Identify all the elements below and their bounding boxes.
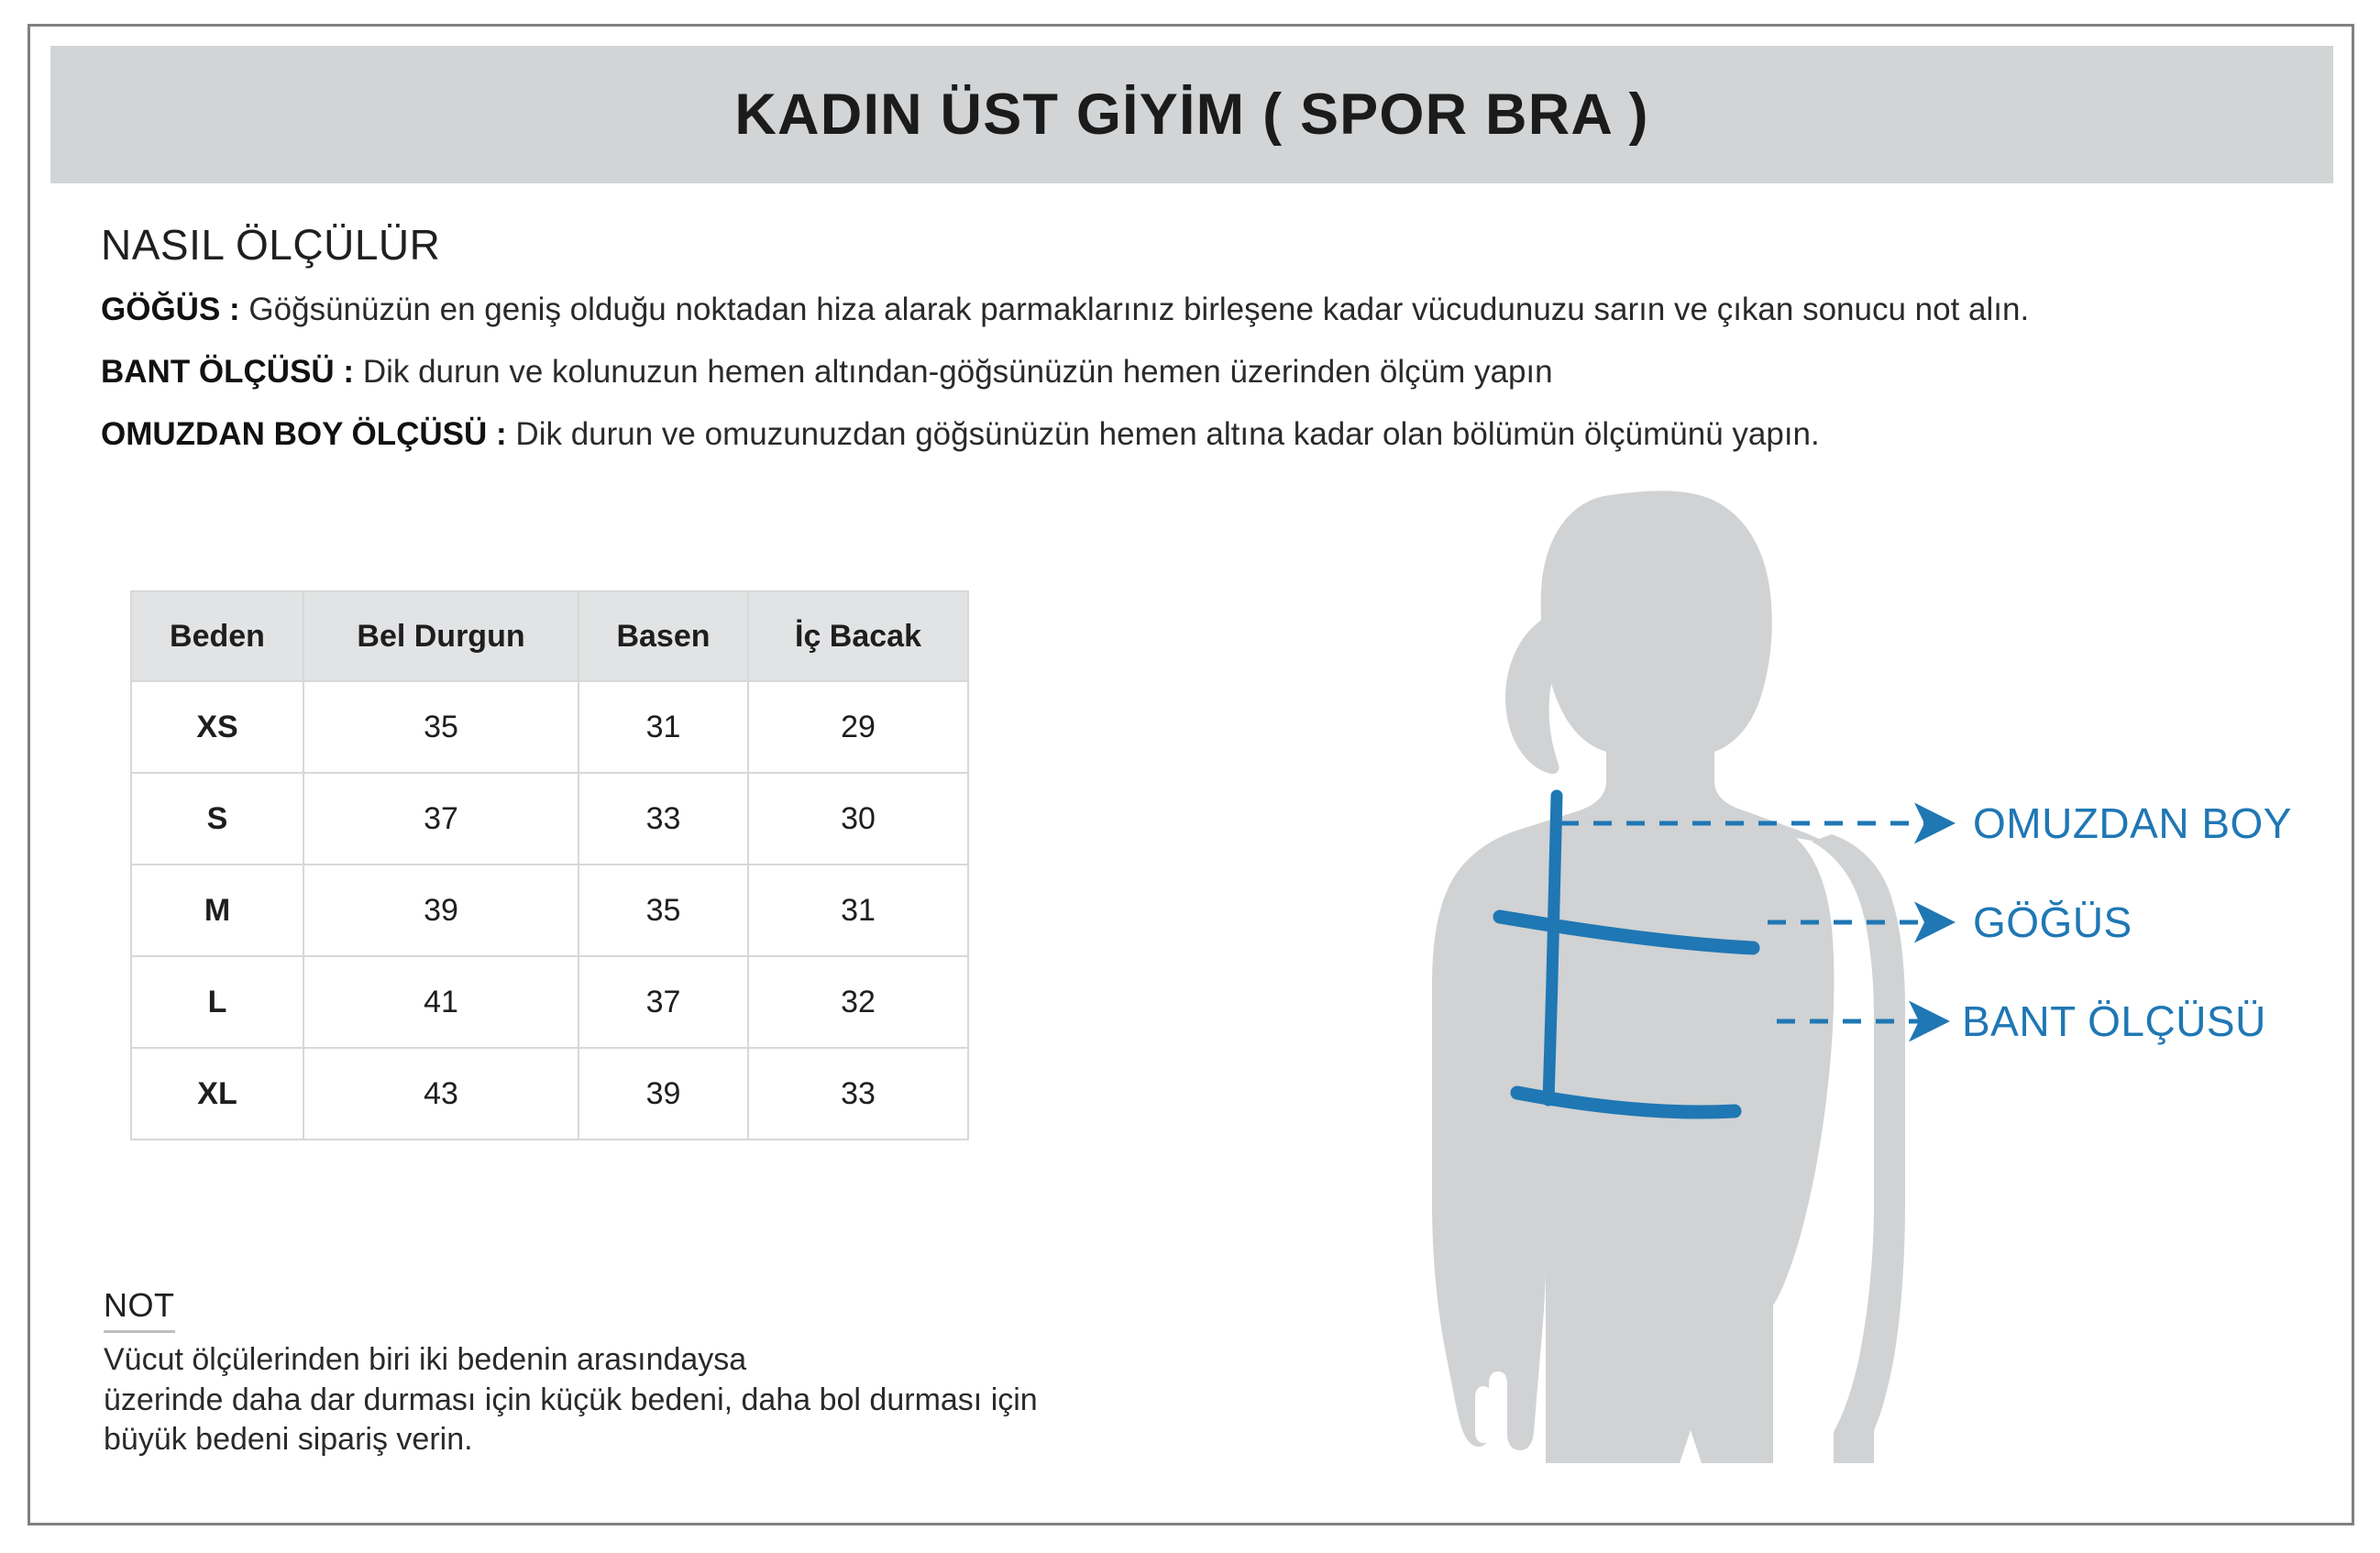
size-table-head: Beden Bel Durgun Basen İç Bacak bbox=[131, 591, 968, 681]
column-header-ic-bacak: İç Bacak bbox=[748, 591, 968, 681]
note-line: Vücut ölçülerinden biri iki bedenin aras… bbox=[104, 1340, 1295, 1381]
cell-basen: 35 bbox=[578, 865, 748, 956]
note-body: Vücut ölçülerinden biri iki bedenin aras… bbox=[104, 1340, 1295, 1460]
table-header-row: Beden Bel Durgun Basen İç Bacak bbox=[131, 591, 968, 681]
cell-bel-durgun: 43 bbox=[303, 1048, 578, 1140]
note-block: NOT Vücut ölçülerinden biri iki bedenin … bbox=[104, 1286, 1295, 1460]
note-title: NOT bbox=[104, 1286, 175, 1333]
diagram-label-gogus: GÖĞÜS bbox=[1973, 898, 2132, 946]
cell-ic-bacak: 33 bbox=[748, 1048, 968, 1140]
cell-bel-durgun: 37 bbox=[303, 773, 578, 865]
column-header-bel-durgun: Bel Durgun bbox=[303, 591, 578, 681]
cell-size: M bbox=[131, 865, 303, 956]
table-row: XS 35 31 29 bbox=[131, 681, 968, 773]
measure-line-omuzdan-boy bbox=[1548, 796, 1557, 1100]
cell-basen: 31 bbox=[578, 681, 748, 773]
cell-ic-bacak: 29 bbox=[748, 681, 968, 773]
measurement-diagram: OMUZDAN BOY GÖĞÜS BANT ÖLÇÜSÜ bbox=[1320, 458, 2338, 1503]
instruction-bant-olcusu: BANT ÖLÇÜSÜ : Dik durun ve kolunuzun hem… bbox=[101, 356, 2209, 388]
cell-bel-durgun: 35 bbox=[303, 681, 578, 773]
note-line: üzerinde daha dar durması için küçük bed… bbox=[104, 1381, 1295, 1421]
cell-size: XS bbox=[131, 681, 303, 773]
cell-basen: 39 bbox=[578, 1048, 748, 1140]
table-row: S 37 33 30 bbox=[131, 773, 968, 865]
cell-size: L bbox=[131, 956, 303, 1048]
female-silhouette-icon bbox=[1432, 490, 1905, 1463]
cell-ic-bacak: 31 bbox=[748, 865, 968, 956]
cell-ic-bacak: 30 bbox=[748, 773, 968, 865]
instruction-bant-olcusu-label: BANT ÖLÇÜSÜ : bbox=[101, 354, 354, 390]
cell-ic-bacak: 32 bbox=[748, 956, 968, 1048]
cell-basen: 37 bbox=[578, 956, 748, 1048]
instruction-omuzdan-boy: OMUZDAN BOY ÖLÇÜSÜ : Dik durun ve omuzun… bbox=[101, 418, 2209, 450]
cell-size: S bbox=[131, 773, 303, 865]
cell-size: XL bbox=[131, 1048, 303, 1140]
column-header-beden: Beden bbox=[131, 591, 303, 681]
column-header-basen: Basen bbox=[578, 591, 748, 681]
table-row: XL 43 39 33 bbox=[131, 1048, 968, 1140]
instruction-omuzdan-boy-text: Dik durun ve omuzunuzdan göğsünüzün heme… bbox=[507, 416, 1820, 452]
cell-bel-durgun: 39 bbox=[303, 865, 578, 956]
instruction-gogus: GÖĞÜS : Göğsünüzün en geniş olduğu nokta… bbox=[101, 293, 2209, 325]
size-table-body: XS 35 31 29 S 37 33 30 M 39 35 31 L 41 3… bbox=[131, 681, 968, 1140]
instructions-heading: NASIL ÖLÇÜLÜR bbox=[101, 220, 2209, 270]
page-title: KADIN ÜST GİYİM ( SPOR BRA ) bbox=[734, 82, 1648, 148]
title-band: KADIN ÜST GİYİM ( SPOR BRA ) bbox=[50, 46, 2333, 183]
table-row: M 39 35 31 bbox=[131, 865, 968, 956]
instructions-block: NASIL ÖLÇÜLÜR GÖĞÜS : Göğsünüzün en geni… bbox=[101, 220, 2209, 480]
cell-bel-durgun: 41 bbox=[303, 956, 578, 1048]
instruction-bant-olcusu-text: Dik durun ve kolunuzun hemen altından-gö… bbox=[354, 354, 1553, 390]
size-table: Beden Bel Durgun Basen İç Bacak XS 35 31… bbox=[130, 590, 969, 1140]
diagram-label-bant-olcusu: BANT ÖLÇÜSÜ bbox=[1962, 997, 2266, 1045]
size-chart-page: KADIN ÜST GİYİM ( SPOR BRA ) NASIL ÖLÇÜL… bbox=[0, 0, 2380, 1553]
instruction-gogus-text: Göğsünüzün en geniş olduğu noktadan hiza… bbox=[240, 292, 2030, 327]
cell-basen: 33 bbox=[578, 773, 748, 865]
table-row: L 41 37 32 bbox=[131, 956, 968, 1048]
note-line: büyük bedeni sipariş verin. bbox=[104, 1420, 1295, 1460]
diagram-label-omuzdan-boy: OMUZDAN BOY bbox=[1973, 799, 2292, 847]
instruction-gogus-label: GÖĞÜS : bbox=[101, 292, 240, 327]
instruction-omuzdan-boy-label: OMUZDAN BOY ÖLÇÜSÜ : bbox=[101, 416, 507, 452]
